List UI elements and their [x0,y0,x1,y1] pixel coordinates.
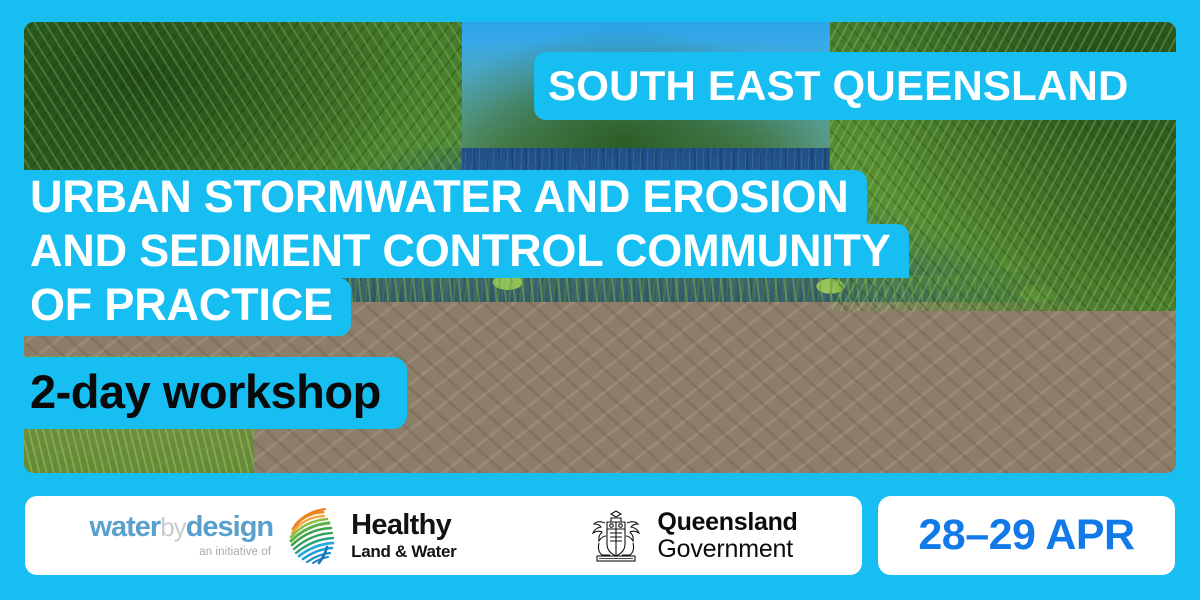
water-by-design-logo: waterbydesign an initiative of [89,507,456,565]
event-date-label: 28–29 APR [918,514,1134,557]
region-label: SOUTH EAST QUEENSLAND [548,65,1129,107]
title-line-1: URBAN STORMWATER AND EROSION [0,170,867,224]
format-label: 2-day workshop [30,365,381,418]
event-title: URBAN STORMWATER AND EROSION AND SEDIMEN… [0,170,1010,336]
wbd-word-design: design [186,511,273,543]
hlw-subtitle: Land & Water [351,543,456,560]
event-date-badge: 28–29 APR [878,496,1175,575]
queensland-coat-of-arms-icon [585,505,647,567]
wbd-wordmark: waterbydesign [89,513,273,542]
queensland-government-logo: Queensland Government [585,505,797,567]
wbd-word-by: by [160,512,185,542]
title-line-3: OF PRACTICE [0,278,351,336]
region-banner: SOUTH EAST QUEENSLAND [534,52,1200,120]
event-promo-banner: SOUTH EAST QUEENSLAND URBAN STORMWATER A… [0,0,1200,600]
partner-logo-bar: waterbydesign an initiative of [25,496,862,575]
healthy-land-water-swirl-icon [283,507,345,565]
format-badge: 2-day workshop [0,357,407,429]
qg-line-2: Government [657,536,797,563]
healthy-land-water-logo: Healthy Land & Water [283,507,456,565]
qg-line-1: Queensland [657,509,797,536]
wbd-tagline: an initiative of [199,546,271,558]
wbd-word-water: water [89,511,160,543]
hlw-title: Healthy [351,511,456,540]
title-line-2: AND SEDIMENT CONTROL COMMUNITY [0,224,909,278]
